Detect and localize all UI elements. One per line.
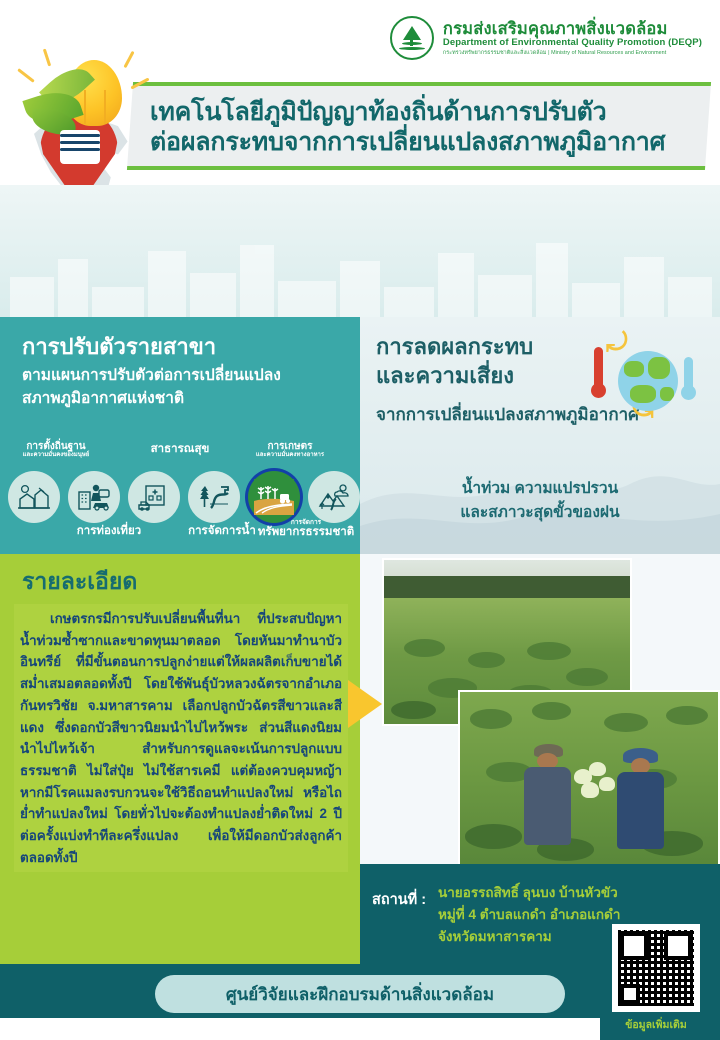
climate-icon-group: ⤾ ⤿	[588, 335, 698, 427]
deqp-emblem-icon	[390, 16, 434, 60]
footer-white-strip	[0, 1018, 600, 1040]
qr-code-label: ข้อมูลเพิ่มเติม	[600, 1016, 712, 1033]
sector-icon-row	[8, 469, 360, 525]
poster-root: กรมส่งเสริมคุณภาพสิ่งแวดล้อม Department …	[0, 0, 720, 1040]
pin-base-lines	[60, 134, 100, 160]
ministry-name: กระทรวงทรัพยากรธรรมชาติและสิ่งแวดล้อม | …	[443, 50, 702, 56]
farmers-harvesting-lotus-photo	[458, 690, 720, 868]
adaptation-subtitle: ตามแผนการปรับตัวต่อการเปลี่ยนแปลง สภาพภู…	[22, 365, 342, 411]
thermometer-cold-icon	[684, 357, 693, 395]
globe-icon	[618, 351, 678, 411]
mitigation-title: การลดผลกระทบ และความเสี่ยง	[376, 333, 533, 390]
mitigation-panel: การลดผลกระทบ และความเสี่ยง จากการเปลี่ยน…	[360, 317, 720, 554]
sector-icon-water-management[interactable]	[188, 471, 240, 523]
qr-code-box[interactable]	[612, 924, 700, 1012]
adaptation-subtitle-line2: สภาพภูมิอากาศแห่งชาติ	[22, 388, 342, 411]
mitigation-risk-text: น้ำท่วม ความแปรปรวน และสภาวะสุดขั้วของฝน	[360, 477, 720, 525]
cycle-arrow-icon: ⤾	[606, 327, 628, 359]
settlement-icon	[17, 482, 51, 512]
sector-icon-tourism[interactable]	[68, 471, 120, 523]
bulb-filament-icon	[84, 90, 106, 124]
technology-name-band: ชื่อเทคโนโลยี : “ทำนาบัวดอก”	[0, 185, 720, 317]
sector-icon-settlement[interactable]	[8, 471, 60, 523]
farmer-right	[610, 748, 672, 849]
header: กรมส่งเสริมคุณภาพสิ่งแวดล้อม Department …	[0, 0, 720, 185]
detail-title: รายละเอียด	[22, 564, 137, 600]
sector-label-agriculture: การเกษตร และความมั่นคงทางอาหาร	[232, 441, 348, 459]
page-title-line1: เทคโนโลยีภูมิปัญญาท้องถิ่นด้านการปรับตัว	[150, 97, 710, 128]
tourism-icon	[77, 482, 111, 512]
sector-label-public-health: สาธารณสุข	[128, 443, 232, 456]
mitigation-title-line2: และความเสี่ยง	[376, 362, 533, 391]
arrow-right-icon	[348, 680, 382, 728]
mitigation-title-line1: การลดผลกระทบ	[376, 333, 533, 362]
location-line2: หมู่ที่ 4 ตำบลแกดำ อำเภอแกดำ	[438, 904, 638, 926]
location-label: สถานที่ :	[372, 888, 426, 911]
detail-section: รายละเอียด เกษตรกรมีการปรับเปลี่ยนพื้นที…	[0, 554, 360, 964]
adaptation-panel: การปรับตัวรายสาขา ตามแผนการปรับตัวต่อการ…	[0, 317, 360, 554]
natural-resources-icon	[317, 482, 351, 512]
city-skyline-decoration	[0, 231, 720, 317]
sector-icon-public-health[interactable]	[128, 471, 180, 523]
sector-label-natural-resources: การจัดการ ทรัพยากรธรรมชาติ	[252, 519, 360, 539]
adaptation-subtitle-line1: ตามแผนการปรับตัวต่อการเปลี่ยนแปลง	[22, 365, 342, 388]
water-management-icon	[197, 482, 231, 512]
public-health-icon	[137, 482, 171, 512]
footer-center-label: ศูนย์วิจัยและฝึกอบรมด้านสิ่งแวดล้อม	[155, 975, 565, 1013]
location-text: นายอรรถสิทธิ์ ลุนบง บ้านหัวขัว หมู่ที่ 4…	[438, 882, 638, 948]
agriculture-icon	[254, 479, 294, 515]
qr-code-icon[interactable]	[618, 930, 694, 1006]
adaptation-title: การปรับตัวรายสาขา	[22, 333, 216, 361]
location-line3: จังหวัดมหาสารคาม	[438, 926, 638, 948]
organization-logo: กรมส่งเสริมคุณภาพสิ่งแวดล้อม Department …	[390, 16, 702, 60]
thermometer-hot-icon	[594, 347, 603, 393]
sector-icon-natural-resources[interactable]	[308, 471, 360, 523]
sector-label-tourism: การท่องเที่ยว	[54, 525, 164, 538]
page-title: เทคโนโลยีภูมิปัญญาท้องถิ่นด้านการปรับตัว…	[150, 88, 710, 166]
sector-icon-agriculture[interactable]	[248, 471, 300, 523]
farmer-left	[517, 744, 579, 845]
risk-line1: น้ำท่วม ความแปรปรวน	[360, 477, 720, 501]
risk-line2: และสภาวะสุดขั้วของฝน	[360, 501, 720, 525]
organization-name-th: กรมส่งเสริมคุณภาพสิ่งแวดล้อม	[443, 20, 702, 38]
page-title-line2: ต่อผลกระทบจากการเปลี่ยนแปลงสภาพภูมิอากาศ	[150, 127, 710, 158]
organization-name-en: Department of Environmental Quality Prom…	[443, 38, 702, 49]
sector-label-settlement: การตั้งถิ่นฐาน และความมั่นคงของมนุษย์	[4, 441, 108, 459]
detail-body: เกษตรกรมีการปรับเปลี่ยนพื้นที่นา ที่ประส…	[14, 604, 348, 872]
location-line1: นายอรรถสิทธิ์ ลุนบง บ้านหัวขัว	[438, 882, 638, 904]
